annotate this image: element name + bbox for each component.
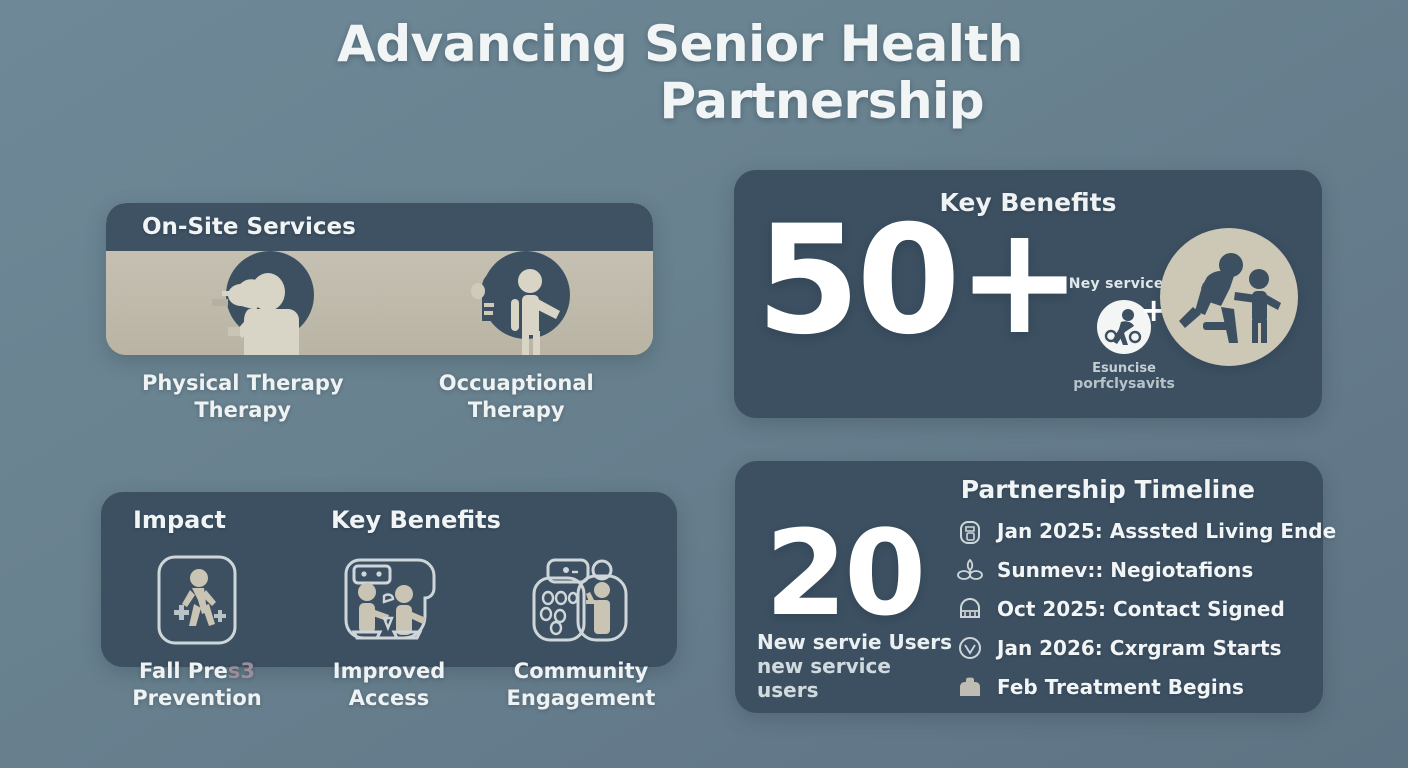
impact-key-benefits-header-label: Key Benefits <box>331 506 501 534</box>
on-site-services-labels: Physical Therapy Therapy Occuaptional Th… <box>106 370 653 423</box>
page-title-line-2: Partnership <box>330 73 1030 130</box>
impact-label-improved-access: Improved Access <box>293 658 485 713</box>
timeline-event-row: Oct 2025: Contact Signed <box>953 589 1307 628</box>
on-site-services-illustration <box>106 251 653 355</box>
impact-label-line-2: Engagement <box>485 685 677 712</box>
timeline-event-list: Jan 2025: Asssted Living Ende Sunmev:: N… <box>953 511 1307 706</box>
on-site-services-card: On-Site Services <box>106 203 653 355</box>
timeline-event-text: Oct 2025: Contact Signed <box>997 597 1285 621</box>
caregiver-assisting-person-icon <box>1160 228 1298 366</box>
building-lock-icon <box>953 516 987 546</box>
timeline-stat-group: 20 New servie Users new service users <box>757 519 957 702</box>
two-people-access-icon <box>334 552 444 648</box>
partnership-timeline-card: Partnership Timeline 20 New servie Users… <box>735 461 1323 713</box>
therapist-with-patient-icon <box>198 251 348 355</box>
on-site-services-header-label: On-Site Services <box>142 214 356 240</box>
key-benefits-side-bottom-line-1: Esuncise <box>1054 361 1194 376</box>
timeline-event-row: Jan 2025: Asssted Living Ende <box>953 511 1307 550</box>
impact-icon-slot <box>293 552 485 648</box>
service-label-occupational-therapy: Occuaptional Therapy <box>380 370 654 423</box>
timeline-event-text: Jan 2025: Asssted Living Ende <box>997 519 1336 543</box>
timeline-event-row: Jan 2026: Cxrgram Starts <box>953 628 1307 667</box>
infographic-root: Advancing Senior Health Partnership On-S… <box>0 0 1408 768</box>
service-label-line-2: Therapy <box>380 397 654 424</box>
service-label-physical-therapy: Physical Therapy Therapy <box>106 370 380 423</box>
walking-person-fall-prevention-icon <box>154 552 240 648</box>
partnership-timeline-title: Partnership Timeline <box>961 475 1255 504</box>
impact-card: Impact Key Benefits <box>101 492 677 667</box>
impact-label-glitch: s3 <box>228 659 255 683</box>
medical-bag-icon <box>953 672 987 702</box>
timeline-event-text: Sunmev:: Negiotafions <box>997 558 1253 582</box>
standing-person-assist-icon <box>464 251 594 355</box>
impact-label-fall-prevention: Fall Pres3 Prevention <box>101 658 293 713</box>
page-title-line-1: Advancing Senior Health <box>330 16 1030 73</box>
on-site-services-header: On-Site Services <box>106 203 653 251</box>
page-title: Advancing Senior Health Partnership <box>330 16 1030 130</box>
timeline-stat-number: 20 <box>757 519 957 628</box>
impact-icon-slot <box>101 552 293 648</box>
key-benefits-stat-card: Key Benefits 50+ Ney servicets + Esuncis… <box>734 170 1322 418</box>
impact-icon-row <box>101 552 677 648</box>
service-label-line-1: Physical Therapy <box>142 371 344 395</box>
timeline-event-text: Jan 2026: Cxrgram Starts <box>997 636 1281 660</box>
service-label-line-1: Occuaptional <box>439 371 594 395</box>
timeline-event-text: Feb Treatment Begins <box>997 675 1244 699</box>
impact-label-line-2: Prevention <box>101 685 293 712</box>
key-benefits-big-number: 50+ <box>756 206 1078 356</box>
timeline-event-row: Feb Treatment Begins <box>953 667 1307 706</box>
impact-labels: Fall Pres3 Prevention Improved Access Co… <box>101 658 677 713</box>
impact-card-headers: Impact Key Benefits <box>101 506 677 540</box>
document-stamp-icon <box>953 594 987 624</box>
impact-header-label: Impact <box>133 506 226 534</box>
impact-label-line-2: Access <box>293 685 485 712</box>
impact-icon-slot <box>485 552 677 648</box>
exercise-figure-badge-icon: + <box>1097 300 1151 354</box>
clock-check-icon <box>953 633 987 663</box>
community-board-person-icon <box>526 552 636 648</box>
timeline-stat-caption-line-2: new service users <box>757 654 957 702</box>
key-benefits-side-bottom-line-2: porfclysavits <box>1054 376 1194 392</box>
service-label-line-2: Therapy <box>106 397 380 424</box>
handshake-sprout-icon <box>953 555 987 585</box>
impact-label-line-1: Fall Pre <box>139 659 228 683</box>
impact-label-community-engagement: Community Engagement <box>485 658 677 713</box>
impact-label-line-1: Community <box>514 659 648 683</box>
timeline-stat-caption-line-1: New servie Users <box>757 630 957 654</box>
timeline-event-row: Sunmev:: Negiotafions <box>953 550 1307 589</box>
impact-label-line-1: Improved <box>333 659 445 683</box>
